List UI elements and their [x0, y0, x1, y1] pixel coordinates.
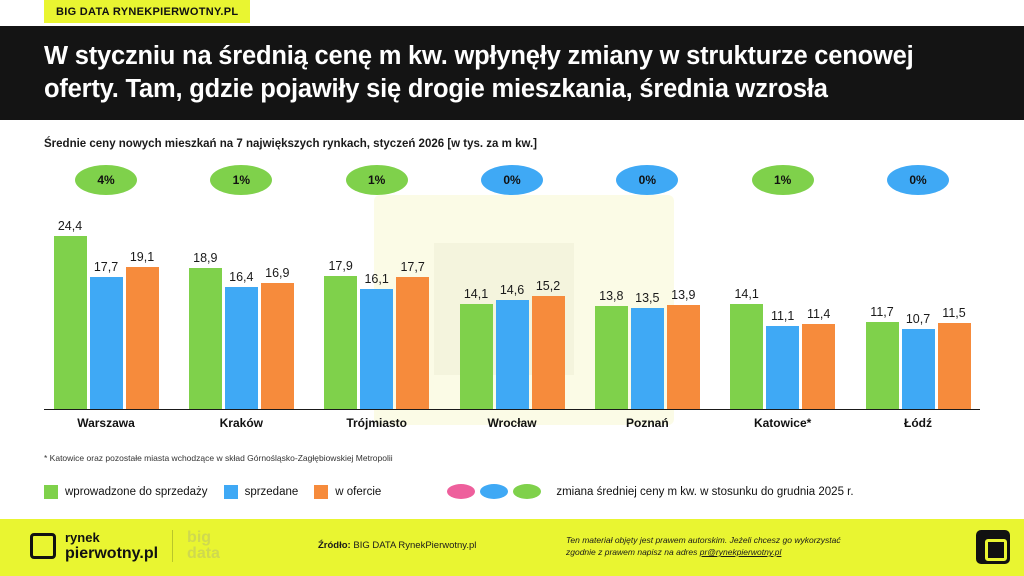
- change-badge: 1%: [346, 165, 408, 195]
- bar-item: 11,7: [866, 219, 899, 409]
- bar-item: 24,4: [54, 219, 87, 409]
- bar[interactable]: [225, 287, 258, 409]
- bar-item: 11,1: [766, 219, 799, 409]
- bar-value-label: 14,1: [734, 287, 758, 301]
- bar-item: 11,5: [938, 219, 971, 409]
- legend-ellipse-label: zmiana średniej ceny m kw. w stosunku do…: [556, 486, 853, 498]
- bar-value-label: 11,1: [771, 309, 794, 323]
- bar-item: 17,9: [324, 219, 357, 409]
- legend-swatch-orange-icon: [314, 485, 328, 499]
- bar-value-label: 16,1: [364, 272, 388, 286]
- x-axis-label: Warszawa: [44, 416, 168, 430]
- bars-container: 24,417,719,1: [44, 219, 168, 409]
- x-axis-label: Wrocław: [450, 416, 574, 430]
- footer-email-link[interactable]: pr@rynekpierwotny.pl: [700, 547, 782, 557]
- rynek-pierwotny-logo-icon: [30, 533, 56, 559]
- bar[interactable]: [766, 326, 799, 409]
- bar-value-label: 17,9: [328, 259, 352, 273]
- bar-value-label: 14,6: [500, 283, 524, 297]
- brand-tag: BIG DATA RYNEKPIERWOTNY.PL: [44, 0, 250, 23]
- bar-value-label: 15,2: [536, 279, 560, 293]
- bars-container: 18,916,416,9: [179, 219, 303, 409]
- footer-rights: Ten materiał objęty jest prawem autorski…: [566, 534, 841, 558]
- bar-item: 18,9: [189, 219, 222, 409]
- change-badge: 0%: [887, 165, 949, 195]
- bar-item: 15,2: [532, 219, 565, 409]
- bar-value-label: 14,1: [464, 287, 488, 301]
- x-axis-label: Łódź: [856, 416, 980, 430]
- change-badge: 0%: [616, 165, 678, 195]
- logo-wordmark: rynek pierwotny.pl: [65, 530, 158, 562]
- bigdata-line-2: data: [187, 545, 220, 562]
- footer-bar: rynek pierwotny.pl big data Źródło: BIG …: [0, 519, 1024, 576]
- bar-item: 14,1: [730, 219, 763, 409]
- bar-value-label: 11,4: [807, 307, 830, 321]
- bar[interactable]: [595, 306, 628, 409]
- footer-divider: [172, 530, 173, 562]
- bar-value-label: 11,5: [942, 306, 965, 320]
- bar[interactable]: [496, 300, 529, 409]
- bar-item: 17,7: [90, 219, 123, 409]
- footer-logo[interactable]: rynek pierwotny.pl big data: [30, 530, 220, 562]
- bar-item: 14,6: [496, 219, 529, 409]
- bar[interactable]: [460, 304, 493, 409]
- headline-line-2: oferty. Tam, gdzie pojawiły się drogie m…: [44, 73, 982, 106]
- bar[interactable]: [802, 324, 835, 409]
- legend-item-0: wprowadzone do sprzedaży: [44, 485, 208, 499]
- bar-value-label: 16,4: [229, 270, 253, 284]
- bar-item: 14,1: [460, 219, 493, 409]
- legend-label-1: sprzedane: [245, 486, 299, 498]
- bar-value-label: 24,4: [58, 219, 82, 233]
- bars-container: 14,111,111,4: [721, 219, 845, 409]
- bar-value-label: 16,9: [265, 266, 289, 280]
- change-badge: 0%: [481, 165, 543, 195]
- bar[interactable]: [324, 276, 357, 409]
- bar[interactable]: [126, 267, 159, 409]
- bar-item: 19,1: [126, 219, 159, 409]
- x-axis-line: [44, 409, 980, 411]
- legend-ellipse-group: [447, 484, 546, 499]
- legend-item-2: w ofercie: [314, 485, 381, 499]
- change-badge: 1%: [752, 165, 814, 195]
- legend-ellipse-pink-icon: [447, 484, 475, 499]
- bar-item: 11,4: [802, 219, 835, 409]
- bar-value-label: 10,7: [906, 312, 930, 326]
- bar-value-label: 17,7: [94, 260, 118, 274]
- footer-source-label: Źródło:: [318, 540, 351, 551]
- bar-group: 1%17,916,117,7Trójmiasto: [315, 165, 439, 430]
- bar[interactable]: [631, 308, 664, 409]
- bar-chart: 4%24,417,719,1Warszawa1%18,916,416,9Krak…: [44, 165, 980, 430]
- legend-ellipse-green-icon: [513, 484, 541, 499]
- logo-line-2: pierwotny.pl: [65, 545, 158, 562]
- legend-ellipse-blue-icon: [480, 484, 508, 499]
- bar-group: 0%13,813,513,9Poznań: [585, 165, 709, 430]
- bigdata-wordmark: big data: [187, 530, 220, 562]
- bar-value-label: 18,9: [193, 251, 217, 265]
- bar-item: 17,7: [396, 219, 429, 409]
- x-axis-label: Trójmiasto: [315, 416, 439, 430]
- bar-value-label: 13,9: [671, 288, 695, 302]
- legend-item-1: sprzedane: [224, 485, 299, 499]
- bar-item: 10,7: [902, 219, 935, 409]
- bar-value-label: 13,8: [599, 289, 623, 303]
- legend-swatch-blue-icon: [224, 485, 238, 499]
- bars-container: 11,710,711,5: [856, 219, 980, 409]
- change-badge: 4%: [75, 165, 137, 195]
- footer-rights-prefix: zgodnie z prawem napisz na adres: [566, 547, 700, 557]
- bar-item: 13,5: [631, 219, 664, 409]
- bars-container: 14,114,615,2: [450, 219, 574, 409]
- bar[interactable]: [396, 277, 429, 409]
- bigdata-line-1: big: [187, 529, 211, 546]
- bars-container: 13,813,513,9: [585, 219, 709, 409]
- footer-rights-line-1: Ten materiał objęty jest prawem autorski…: [566, 534, 841, 546]
- bar-item: 13,9: [667, 219, 700, 409]
- bar-group: 1%14,111,111,4Katowice*: [721, 165, 845, 430]
- bar-item: 16,1: [360, 219, 393, 409]
- logo-line-1: rynek: [65, 530, 100, 545]
- bar[interactable]: [866, 322, 899, 409]
- bar[interactable]: [730, 304, 763, 409]
- footer-source: Źródło: BIG DATA RynekPierwotny.pl: [318, 540, 476, 551]
- footer-corner-logo-icon: [976, 530, 1010, 564]
- bar[interactable]: [360, 289, 393, 409]
- footer-rights-line-2: zgodnie z prawem napisz na adres pr@ryne…: [566, 546, 841, 558]
- bar[interactable]: [90, 277, 123, 409]
- legend-swatch-green-icon: [44, 485, 58, 499]
- bar[interactable]: [54, 236, 87, 409]
- bar-value-label: 19,1: [130, 250, 154, 264]
- footer-source-value: BIG DATA RynekPierwotny.pl: [353, 540, 476, 551]
- legend-label-2: w ofercie: [335, 486, 381, 498]
- bar-group: 0%14,114,615,2Wrocław: [450, 165, 574, 430]
- bar-value-label: 13,5: [635, 291, 659, 305]
- bar[interactable]: [189, 268, 222, 409]
- chart-footnote: * Katowice oraz pozostałe miasta wchodzą…: [44, 453, 393, 463]
- chart-legend: wprowadzone do sprzedaży sprzedane w ofe…: [44, 484, 854, 499]
- bar-value-label: 11,7: [870, 305, 893, 319]
- bar[interactable]: [532, 296, 565, 409]
- bar-group: 0%11,710,711,5Łódź: [856, 165, 980, 430]
- bar-group: 4%24,417,719,1Warszawa: [44, 165, 168, 430]
- x-axis-label: Katowice*: [721, 416, 845, 430]
- headline-band: W styczniu na średnią cenę m kw. wpłynęł…: [0, 26, 1024, 120]
- legend-label-0: wprowadzone do sprzedaży: [65, 486, 208, 498]
- bar[interactable]: [902, 329, 935, 409]
- change-badge: 1%: [210, 165, 272, 195]
- bar-group: 1%18,916,416,9Kraków: [179, 165, 303, 430]
- bar[interactable]: [667, 305, 700, 409]
- bar-value-label: 17,7: [400, 260, 424, 274]
- headline-line-1: W styczniu na średnią cenę m kw. wpłynęł…: [44, 40, 982, 73]
- bar[interactable]: [938, 323, 971, 409]
- chart-subtitle: Średnie ceny nowych mieszkań na 7 najwię…: [44, 138, 537, 150]
- x-axis-label: Kraków: [179, 416, 303, 430]
- bar-item: 16,4: [225, 219, 258, 409]
- bar-item: 16,9: [261, 219, 294, 409]
- bars-container: 17,916,117,7: [315, 219, 439, 409]
- x-axis-label: Poznań: [585, 416, 709, 430]
- bar-item: 13,8: [595, 219, 628, 409]
- bar[interactable]: [261, 283, 294, 409]
